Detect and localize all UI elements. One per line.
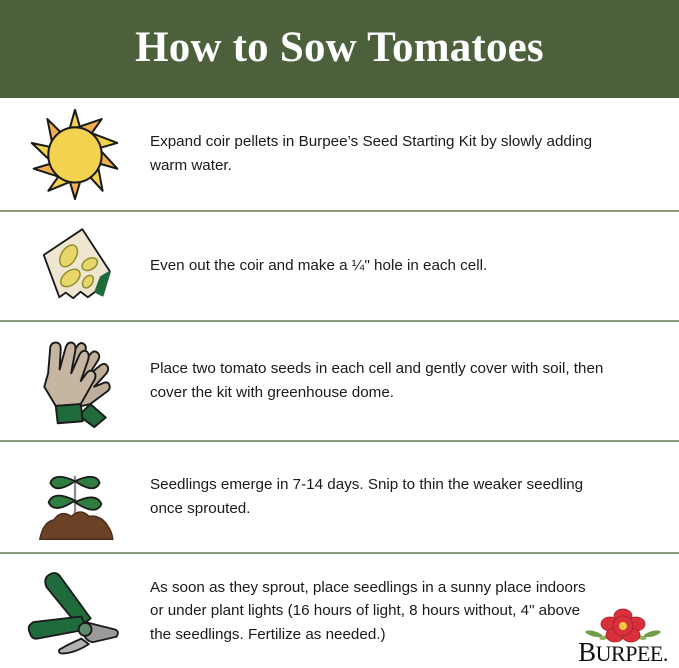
step-icon-cell [0,451,150,543]
step-icon-cell [0,108,150,200]
step-description: Place two tomato seeds in each cell and … [150,357,609,404]
step-icon-cell [0,565,150,657]
seed-packet-icon [27,220,123,312]
sun-icon [29,108,121,200]
step-row: As soon as they sprout, place seedlings … [0,552,679,668]
header-banner: How to Sow Tomatoes [0,0,679,98]
step-icon-cell [0,331,150,431]
step-text-cell: Seedlings emerge in 7-14 days. Snip to t… [150,473,679,520]
step-text-cell: Place two tomato seeds in each cell and … [150,357,679,404]
steps-list: Expand coir pellets in Burpee’s Seed Sta… [0,98,679,668]
burpee-wordmark-period: . [663,641,668,666]
step-description: Even out the coir and make a ¼" hole in … [150,254,609,278]
step-row: Place two tomato seeds in each cell and … [0,320,679,440]
step-row: Seedlings emerge in 7-14 days. Snip to t… [0,440,679,552]
step-row: Expand coir pellets in Burpee’s Seed Sta… [0,98,679,210]
gardening-gloves-icon [27,331,123,431]
pruning-shears-icon [23,565,127,657]
burpee-logo: BURPEE. [575,604,671,666]
step-text-cell: Even out the coir and make a ¼" hole in … [150,254,679,278]
page-title: How to Sow Tomatoes [135,26,544,73]
burpee-wordmark-initial: B [578,637,596,667]
step-description: Expand coir pellets in Burpee’s Seed Sta… [150,130,609,177]
infographic-root: How to Sow Tomatoes [0,0,679,668]
seedling-icon [31,451,119,543]
burpee-wordmark-rest: URPEE [596,641,663,666]
step-description: Seedlings emerge in 7-14 days. Snip to t… [150,473,609,520]
step-icon-cell [0,220,150,312]
step-row: Even out the coir and make a ¼" hole in … [0,210,679,320]
step-description: As soon as they sprout, place seedlings … [150,576,599,647]
step-text-cell: Expand coir pellets in Burpee’s Seed Sta… [150,130,679,177]
burpee-wordmark: BURPEE. [575,639,671,666]
